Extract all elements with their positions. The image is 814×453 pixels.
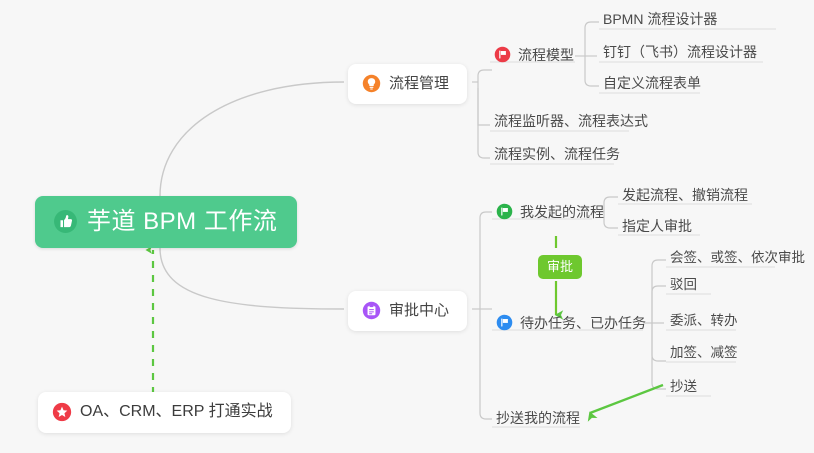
node-bpmn-designer[interactable]: BPMN 流程设计器 xyxy=(599,12,721,31)
node-label-add-remove-sign: 加签、减签 xyxy=(670,346,738,360)
tag-approval: 审批 xyxy=(538,255,582,279)
branch-label-approval-center: 审批中心 xyxy=(389,303,449,318)
node-label-process-instance: 流程实例、流程任务 xyxy=(494,147,620,161)
node-add-remove-sign[interactable]: 加签、减签 xyxy=(666,346,742,365)
node-label-cc-my-process: 抄送我的流程 xyxy=(496,411,580,425)
node-todo-done-tasks[interactable]: 待办任务、已办任务 xyxy=(492,314,650,336)
node-label-assigned-approver: 指定人审批 xyxy=(622,219,692,233)
branch-node-approval-center[interactable]: 审批中心 xyxy=(348,291,467,331)
node-process-listener[interactable]: 流程监听器、流程表达式 xyxy=(490,114,652,133)
node-cc-my-process[interactable]: 抄送我的流程 xyxy=(492,411,584,430)
node-label-process-listener: 流程监听器、流程表达式 xyxy=(494,114,648,128)
branch-label-process-management: 流程管理 xyxy=(389,76,449,91)
node-label-countersign-approval: 会签、或签、依次审批 xyxy=(670,251,805,265)
node-dingtalk-feishu-designer[interactable]: 钉钉（飞书）流程设计器 xyxy=(599,45,761,64)
node-assigned-approver[interactable]: 指定人审批 xyxy=(618,219,696,238)
node-label-dingtalk-feishu-designer: 钉钉（飞书）流程设计器 xyxy=(603,45,757,59)
lightbulb-icon xyxy=(362,74,381,93)
flag-blue-icon xyxy=(496,314,513,331)
node-label-bpmn-designer: BPMN 流程设计器 xyxy=(603,12,717,26)
root-node[interactable]: 芋道 BPM 工作流 xyxy=(35,196,297,248)
node-label-custom-form: 自定义流程表单 xyxy=(603,76,701,90)
flag-red-icon xyxy=(494,46,511,63)
free-node-oa-crm-erp[interactable]: OA、CRM、ERP 打通实战 xyxy=(38,392,291,433)
node-carbon-copy[interactable]: 抄送 xyxy=(666,380,701,399)
mindmap-canvas: 芋道 BPM 工作流 流程管理 流程模型 BPMN 流程设计器 钉钉（飞书 xyxy=(0,0,814,453)
node-label-my-started-process: 我发起的流程 xyxy=(520,205,604,219)
node-start-cancel-process[interactable]: 发起流程、撤销流程 xyxy=(618,188,752,207)
node-delegate-transfer[interactable]: 委派、转办 xyxy=(666,314,742,333)
flag-green-icon xyxy=(496,203,513,220)
node-countersign-approval[interactable]: 会签、或签、依次审批 xyxy=(666,251,809,270)
node-reject[interactable]: 驳回 xyxy=(666,278,701,297)
thumbs-up-icon xyxy=(53,209,78,234)
node-process-model[interactable]: 流程模型 xyxy=(490,46,578,68)
node-my-started-process[interactable]: 我发起的流程 xyxy=(492,203,608,225)
root-label: 芋道 BPM 工作流 xyxy=(87,210,277,234)
node-label-process-model: 流程模型 xyxy=(518,48,574,62)
free-node-label-oa-crm-erp: OA、CRM、ERP 打通实战 xyxy=(80,404,273,420)
branch-node-process-management[interactable]: 流程管理 xyxy=(348,64,467,104)
node-label-todo-done-tasks: 待办任务、已办任务 xyxy=(520,316,646,330)
clipboard-icon xyxy=(362,301,381,320)
node-label-delegate-transfer: 委派、转办 xyxy=(670,314,738,328)
star-icon xyxy=(52,402,72,422)
node-process-instance[interactable]: 流程实例、流程任务 xyxy=(490,147,624,166)
node-custom-form[interactable]: 自定义流程表单 xyxy=(599,76,705,95)
tag-approval-label: 审批 xyxy=(547,259,573,274)
node-label-reject: 驳回 xyxy=(670,278,697,292)
node-label-start-cancel-process: 发起流程、撤销流程 xyxy=(622,188,748,202)
node-label-carbon-copy: 抄送 xyxy=(670,380,697,394)
